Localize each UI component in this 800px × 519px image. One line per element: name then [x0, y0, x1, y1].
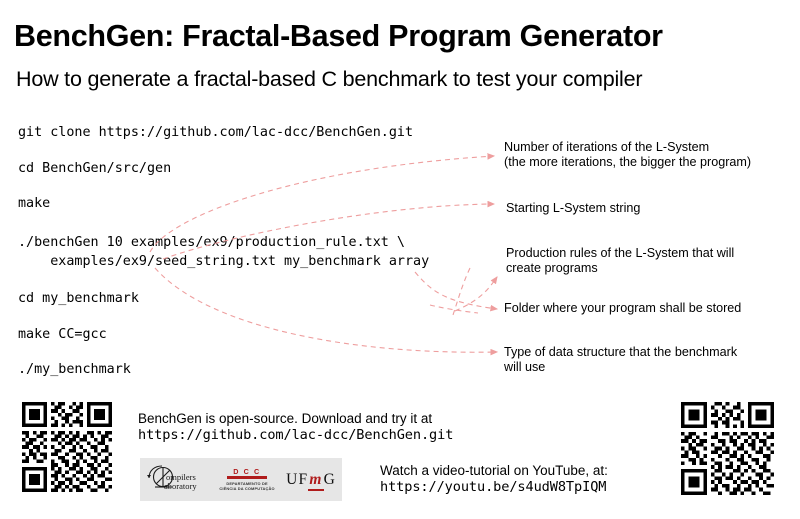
annotation-line: Number of iterations of the L-System — [504, 140, 796, 155]
ufmg-letter-m: m — [309, 471, 322, 488]
qr-code-icon — [681, 402, 774, 495]
command-line-part: ./benchGen 10 examples/ex9/production_ru… — [18, 235, 405, 250]
video-tutorial-callout: Watch a video-tutorial on YouTube, at: h… — [380, 462, 680, 497]
ufmg-letter-m-wrapper: m — [309, 471, 322, 489]
youtube-tutorial-qr-code[interactable] — [677, 398, 778, 499]
poster-canvas: BenchGen: Fractal-Based Program Generato… — [0, 0, 800, 519]
ufmg-logo: U F m G — [286, 471, 336, 489]
command-line-part: examples/ex9/seed_string.txt my_benchmar… — [18, 254, 429, 269]
compilers-laboratory-icon: ompilers aboratory — [146, 465, 208, 495]
ufmg-letter-g: G — [324, 471, 336, 489]
dcc-logo: D C C DEPARTAMENTO DE CIÊNCIA DA COMPUTA… — [219, 468, 274, 492]
youtube-tutorial-url[interactable]: https://youtu.be/s4udW8TpIQM — [380, 479, 680, 496]
open-source-callout: BenchGen is open-source. Download and tr… — [138, 410, 548, 445]
annotation-seed-string: Starting L-System string — [506, 201, 798, 216]
annotation-output-folder: Folder where your program shall be store… — [504, 301, 796, 316]
ufmg-letter-u: U — [286, 471, 298, 489]
page-subtitle: How to generate a fractal-based C benchm… — [16, 68, 788, 91]
video-tutorial-caption: Watch a video-tutorial on YouTube, at: — [380, 462, 680, 479]
compilers-laboratory-logo: ompilers aboratory — [146, 458, 208, 501]
annotation-data-structure: Type of data structure that the benchmar… — [504, 345, 796, 376]
command-line: make CC=gcc — [18, 328, 488, 342]
command-line: git clone https://github.com/lac-dcc/Ben… — [18, 126, 488, 140]
dcc-accent-bar — [227, 476, 267, 479]
command-line: cd my_benchmark — [18, 292, 488, 306]
qr-code-icon — [22, 402, 112, 492]
dcc-subtitle-line-2: CIÊNCIA DA COMPUTAÇÃO — [219, 486, 274, 491]
annotation-line: Starting L-System string — [506, 201, 798, 216]
command-line: ./my_benchmark — [18, 363, 488, 377]
annotation-line: Type of data structure that the benchmar… — [504, 345, 796, 360]
page-title: BenchGen: Fractal-Based Program Generato… — [14, 20, 786, 52]
github-repository-qr-code[interactable] — [18, 398, 116, 496]
annotation-line: will use — [504, 360, 796, 375]
annotation-production-rules: Production rules of the L-System that wi… — [506, 246, 798, 277]
annotation-line: Production rules of the L-System that wi… — [506, 246, 798, 261]
ufmg-underline — [308, 489, 323, 491]
annotation-line: create programs — [506, 261, 798, 276]
annotation-iterations: Number of iterations of the L-System (th… — [504, 140, 796, 171]
compilers-lab-word-2: aboratory — [164, 481, 197, 491]
command-line-benchgen: ./benchGen 10 examples/ex9/production_ru… — [18, 233, 488, 272]
annotation-line: (the more iterations, the bigger the pro… — [504, 155, 796, 170]
ufmg-letter-f: F — [298, 471, 308, 489]
institution-logo-bar: ompilers aboratory D C C DEPARTAMENTO DE… — [140, 458, 342, 501]
open-source-caption: BenchGen is open-source. Download and tr… — [138, 410, 548, 427]
command-line: cd BenchGen/src/gen — [18, 162, 488, 176]
annotation-line: Folder where your program shall be store… — [504, 301, 796, 316]
github-repository-url[interactable]: https://github.com/lac-dcc/BenchGen.git — [138, 427, 548, 444]
command-line: make — [18, 197, 488, 211]
command-list: git clone https://github.com/lac-dcc/Ben… — [18, 126, 488, 377]
dcc-letters: D C C — [219, 468, 274, 475]
